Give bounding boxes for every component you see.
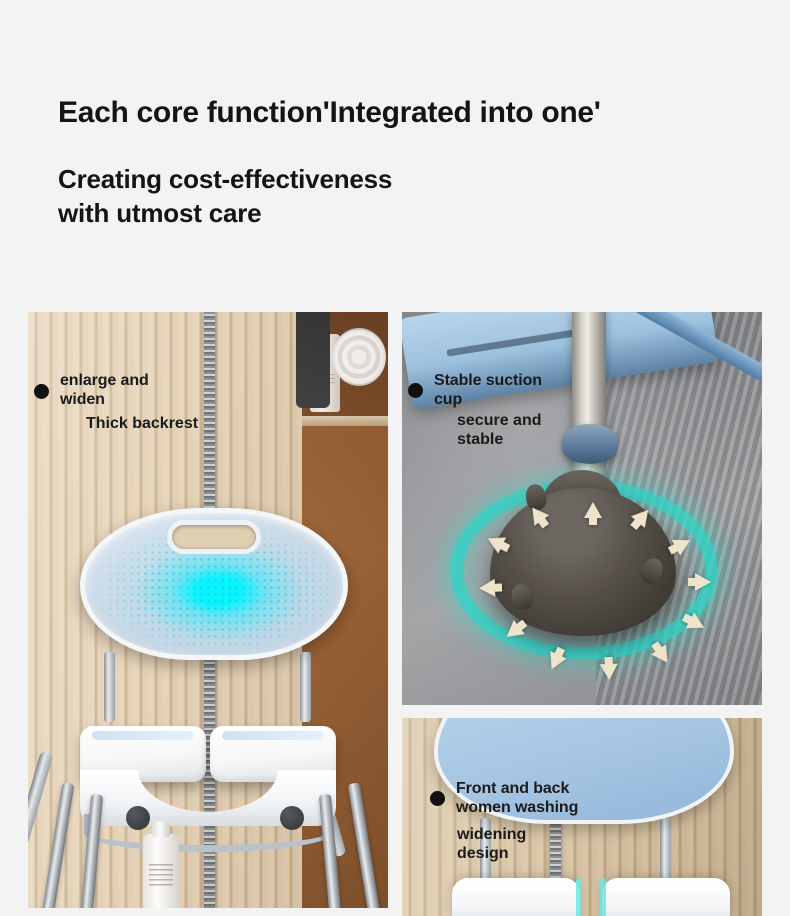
callout-primary-text: Front and back women washing [456, 779, 578, 817]
pole-collar [562, 424, 618, 464]
callout-primary-text: Stable suction cup [434, 371, 542, 409]
bullet-icon [430, 791, 445, 806]
bullet-icon [408, 383, 423, 398]
backrest-post-right [300, 652, 311, 722]
page-subtitle: Creating cost-effectiveness with utmost … [58, 162, 758, 230]
page-title: Each core function'Integrated into one' [58, 92, 758, 134]
bullet-icon [34, 384, 49, 399]
pressure-arrow-left [479, 579, 496, 598]
pressure-arrow-down [600, 664, 619, 681]
page-subtitle-line-2: with utmost care [58, 196, 758, 230]
callout-thick-backrest: enlarge and widen [34, 373, 149, 409]
seat-pad-left [452, 878, 580, 916]
callout-secondary-text-backrest: Thick backrest [86, 414, 198, 433]
page-subtitle-line-1: Creating cost-effectiveness [58, 162, 758, 196]
suction-nub-right [638, 555, 666, 586]
callout-primary-text: enlarge and widen [60, 371, 149, 409]
widening-design-panel[interactable] [402, 718, 762, 916]
thick-backrest [80, 508, 348, 660]
backrest-handle-cutout [172, 525, 256, 549]
callout-suction-cup: Stable suction cup [408, 371, 542, 409]
headline-block: Each core function'Integrated into one' … [58, 92, 758, 230]
pressure-arrow-right [695, 573, 711, 591]
seat-knob-right [280, 806, 304, 830]
seat-assembly [58, 726, 358, 856]
suction-nub-left [508, 582, 535, 613]
callout-widening-design: Front and back women washing [430, 779, 578, 817]
backrest-post-left [104, 652, 115, 722]
seat-knob-left [126, 806, 150, 830]
seat-pad-right [602, 878, 730, 916]
product-feature-page: Each core function'Integrated into one' … [0, 0, 790, 916]
callout-secondary-text-suction: secure and stable [457, 411, 541, 449]
floor-bottle [143, 834, 179, 908]
callout-secondary-text-widening: widening design [457, 825, 526, 863]
pressure-arrow-up [584, 502, 602, 518]
